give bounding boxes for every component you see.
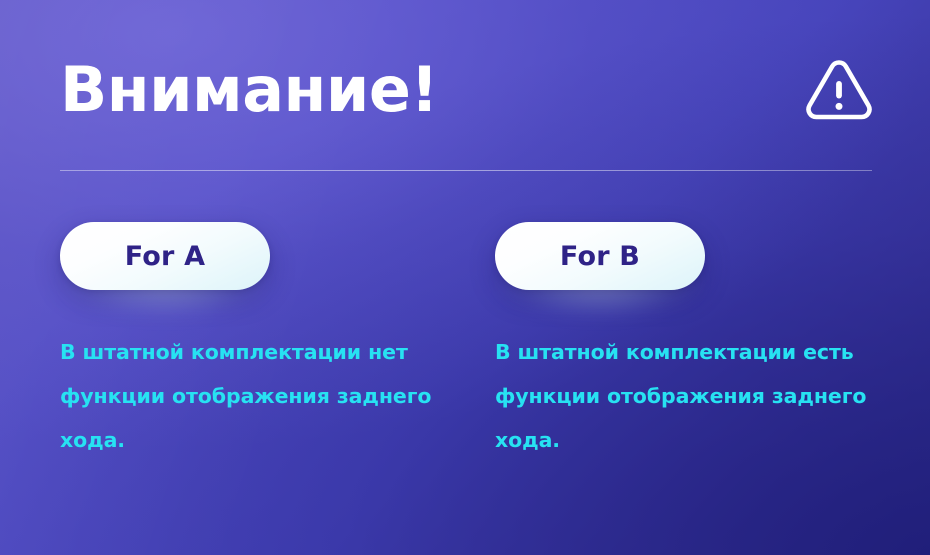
column-for-b: For B В штатной комплектации есть функци… [495, 222, 885, 290]
page-title: Внимание! [60, 48, 438, 132]
pill-wrapper-for-b: For B [495, 222, 705, 290]
body-text-for-a: В штатной комплектации нет функции отобр… [60, 330, 450, 462]
slide-header: Внимание! [60, 48, 875, 144]
warning-triangle-icon [803, 54, 875, 122]
pill-button-for-b[interactable]: For B [495, 222, 705, 290]
pill-button-for-a[interactable]: For A [60, 222, 270, 290]
pill-label-for-a: For A [125, 243, 206, 270]
header-divider [60, 170, 872, 171]
notice-slide: Внимание! For A В штатной комплектации н… [0, 0, 930, 555]
pill-label-for-b: For B [560, 243, 640, 270]
pill-wrapper-for-a: For A [60, 222, 270, 290]
body-text-for-b: В штатной комплектации есть функции отоб… [495, 330, 885, 462]
column-for-a: For A В штатной комплектации нет функции… [60, 222, 450, 290]
